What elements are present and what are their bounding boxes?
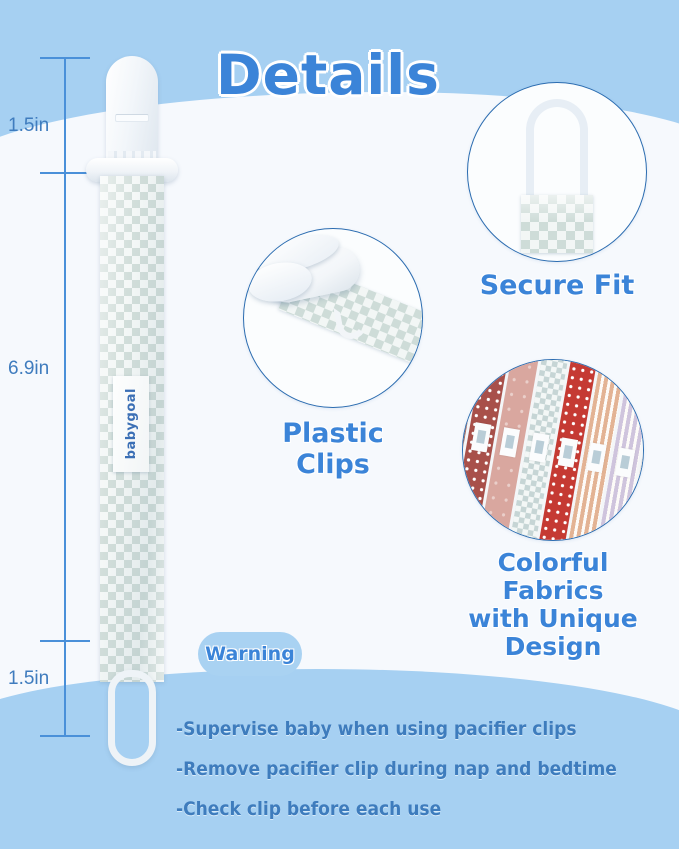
label-line-3: Design — [445, 633, 661, 661]
feature-label-colorful-fabrics: Colorful Fabrics with Unique Design — [445, 549, 661, 661]
brand-label-tag — [500, 427, 521, 457]
patch-sheen — [521, 195, 593, 253]
dimension-tick-clip-top — [40, 57, 90, 59]
dimension-label-clip: 1.5in — [8, 115, 49, 137]
brand-label-tag — [471, 422, 492, 452]
warning-item: -Supervise baby when using pacifier clip… — [176, 718, 676, 740]
brand-label-tag: babygoal — [113, 376, 149, 472]
label-line-2: with Unique — [445, 605, 661, 633]
feature-label-plastic-clips: Plastic Clips — [243, 418, 423, 480]
checkered-strap: babygoal — [100, 176, 164, 682]
fabric-patch — [521, 195, 593, 253]
brand-label-tag — [462, 417, 463, 447]
brand-label-tag — [586, 443, 607, 473]
dimension-line-clip — [64, 58, 66, 174]
label-line-1: Colorful Fabrics — [445, 549, 661, 605]
dimension-line-strap — [64, 174, 66, 642]
warning-list: -Supervise baby when using pacifier clip… — [176, 718, 676, 838]
fabric-swatch-row — [462, 359, 644, 541]
warning-badge-label: Warning — [205, 643, 295, 665]
brand-label-tag — [614, 448, 635, 478]
feature-plastic-clips: Plastic Clips — [243, 228, 423, 480]
warning-item: -Check clip before each use — [176, 798, 676, 820]
colorful-fabrics-image — [462, 359, 644, 541]
brand-label-tag — [643, 453, 644, 483]
infographic-stage: Details 1.5in 6.9in 1.5in babygoal — [0, 0, 679, 849]
brand-label-tag — [528, 432, 549, 462]
brand-name: babygoal — [124, 388, 139, 459]
dimension-tick-loop-bottom — [40, 735, 90, 737]
feature-secure-fit: Secure Fit — [467, 82, 647, 301]
silicone-loop-icon — [108, 670, 156, 766]
dimension-label-strap: 6.9in — [8, 358, 49, 380]
clip-head-icon — [106, 56, 158, 164]
warning-badge: Warning — [198, 632, 302, 676]
product-pacifier-clip: babygoal — [84, 50, 194, 750]
clip-head-slot — [115, 114, 149, 122]
plastic-clips-image — [243, 228, 423, 408]
brand-label-tag — [557, 438, 578, 468]
dimension-tick-loop-top — [40, 640, 90, 642]
page-title: Details — [216, 43, 440, 107]
dimension-label-loop: 1.5in — [8, 668, 49, 690]
warning-item: -Remove pacifier clip during nap and bed… — [176, 758, 676, 780]
feature-label-secure-fit: Secure Fit — [467, 270, 647, 301]
secure-fit-image — [467, 82, 647, 262]
feature-colorful-fabrics: Colorful Fabrics with Unique Design — [462, 359, 661, 661]
dimension-line-loop — [64, 641, 66, 737]
